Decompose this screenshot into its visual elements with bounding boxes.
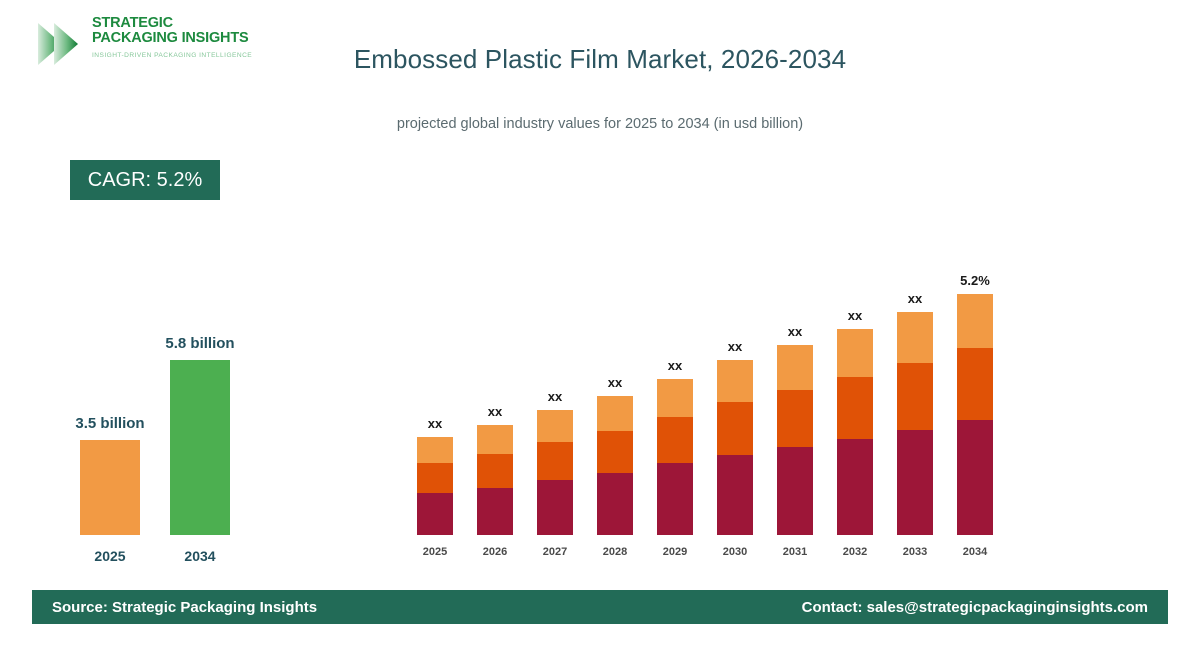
stacked-bar-label-2029: xx — [645, 358, 705, 373]
footer-contact: Contact: sales@strategicpackaginginsight… — [802, 599, 1148, 616]
stacked-bar-2033 — [897, 312, 933, 535]
segment-middle-2034 — [957, 348, 993, 420]
comparison-value-label-2034: 5.8 billion — [120, 335, 280, 352]
segment-bottom-2030 — [717, 455, 753, 535]
segment-bottom-2034 — [957, 420, 993, 535]
segment-top-2032 — [837, 329, 873, 377]
segment-bottom-2028 — [597, 473, 633, 535]
segment-bottom-2032 — [837, 439, 873, 535]
comparison-value-label-2025: 3.5 billion — [30, 415, 190, 432]
stacked-bar-label-2033: xx — [885, 291, 945, 306]
page-title: Embossed Plastic Film Market, 2026-2034 — [0, 44, 1200, 75]
stacked-bar-2029 — [657, 379, 693, 535]
segment-middle-2025 — [417, 463, 453, 493]
stacked-bar-year-2027: 2027 — [525, 546, 585, 558]
segment-top-2026 — [477, 425, 513, 454]
stacked-bar-year-2026: 2026 — [465, 546, 525, 558]
stacked-bar-label-2031: xx — [765, 324, 825, 339]
stacked-bar-2026 — [477, 425, 513, 535]
segment-bottom-2033 — [897, 430, 933, 535]
stacked-bar-2034 — [957, 294, 993, 535]
stacked-bar-label-2025: xx — [405, 416, 465, 431]
segment-top-2033 — [897, 312, 933, 363]
stacked-bar-2028 — [597, 396, 633, 535]
stacked-bar-2031 — [777, 345, 813, 535]
stacked-bar-label-2026: xx — [465, 404, 525, 419]
comparison-bar-chart: 3.5 billion20255.8 billion2034 — [40, 300, 320, 570]
segment-middle-2031 — [777, 390, 813, 447]
segment-top-2029 — [657, 379, 693, 417]
segment-bottom-2026 — [477, 488, 513, 535]
comparison-bar-2034 — [170, 360, 230, 535]
comparison-bar-2025 — [80, 440, 140, 535]
segment-middle-2032 — [837, 377, 873, 439]
stacked-bar-2027 — [537, 410, 573, 535]
segment-middle-2028 — [597, 431, 633, 473]
segment-middle-2029 — [657, 417, 693, 463]
segment-bottom-2029 — [657, 463, 693, 535]
segment-middle-2030 — [717, 402, 753, 455]
segment-top-2027 — [537, 410, 573, 442]
stacked-bar-label-2028: xx — [585, 375, 645, 390]
segment-bottom-2025 — [417, 493, 453, 535]
brand-name-line-1: STRATEGIC — [92, 16, 252, 31]
stacked-bar-year-2028: 2028 — [585, 546, 645, 558]
stacked-bar-year-2031: 2031 — [765, 546, 825, 558]
stacked-bar-2030 — [717, 360, 753, 535]
segment-top-2025 — [417, 437, 453, 463]
segment-bottom-2031 — [777, 447, 813, 535]
stacked-bar-2025 — [417, 437, 453, 535]
stacked-bar-year-2025: 2025 — [405, 546, 465, 558]
segment-bottom-2027 — [537, 480, 573, 535]
stacked-bar-label-2032: xx — [825, 308, 885, 323]
stacked-bar-year-2032: 2032 — [825, 546, 885, 558]
comparison-year-label-2034: 2034 — [140, 548, 260, 564]
stacked-bar-label-2027: xx — [525, 389, 585, 404]
cagr-badge: CAGR: 5.2% — [70, 160, 220, 200]
stacked-bar-year-2034: 2034 — [945, 546, 1005, 558]
stacked-bar-year-2033: 2033 — [885, 546, 945, 558]
segment-middle-2033 — [897, 363, 933, 430]
segment-top-2028 — [597, 396, 633, 431]
stacked-bar-chart: xx2025xx2026xx2027xx2028xx2029xx2030xx20… — [400, 195, 1020, 560]
segment-middle-2026 — [477, 454, 513, 488]
footer-source: Source: Strategic Packaging Insights — [52, 599, 317, 616]
footer-bar: Source: Strategic Packaging Insights Con… — [32, 590, 1168, 624]
page-subtitle: projected global industry values for 202… — [0, 116, 1200, 132]
stacked-bar-year-2029: 2029 — [645, 546, 705, 558]
stacked-bar-label-2034: 5.2% — [945, 273, 1005, 288]
segment-top-2034 — [957, 294, 993, 348]
stacked-bar-year-2030: 2030 — [705, 546, 765, 558]
segment-top-2031 — [777, 345, 813, 390]
segment-middle-2027 — [537, 442, 573, 480]
stacked-bar-2032 — [837, 329, 873, 535]
segment-top-2030 — [717, 360, 753, 402]
stacked-bar-label-2030: xx — [705, 339, 765, 354]
